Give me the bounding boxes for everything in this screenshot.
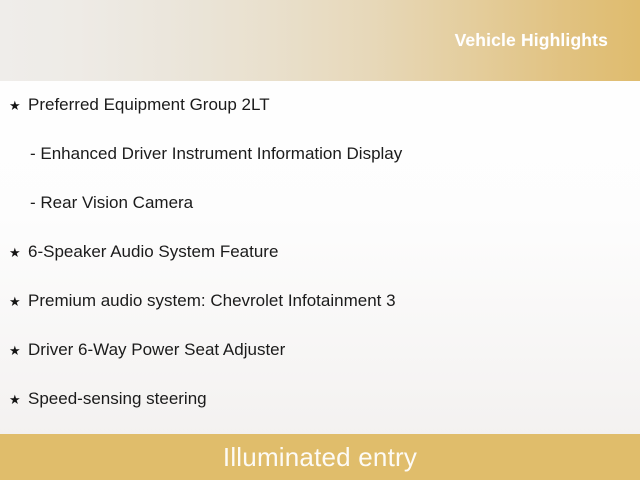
vehicle-highlights-panel: Vehicle Highlights ★ Preferred Equipment…: [0, 0, 640, 480]
list-item: ★ Driver 6-Way Power Seat Adjuster: [0, 326, 640, 375]
highlight-label: Speed-sensing steering: [28, 390, 207, 409]
star-bullet-icon: ★: [9, 295, 27, 308]
list-item: ★ Premium audio system: Chevrolet Infota…: [0, 277, 640, 326]
highlight-label: Premium audio system: Chevrolet Infotain…: [28, 292, 396, 311]
star-bullet-icon: ★: [9, 393, 27, 406]
list-item: - Enhanced Driver Instrument Information…: [0, 130, 640, 179]
footer-bar: Illuminated entry: [0, 434, 640, 480]
highlight-sublabel: - Enhanced Driver Instrument Information…: [30, 145, 402, 164]
star-bullet-icon: ★: [9, 246, 27, 259]
page-title: Vehicle Highlights: [455, 32, 608, 50]
panel-header: Vehicle Highlights: [0, 0, 640, 81]
highlight-sublabel: - Rear Vision Camera: [30, 194, 193, 213]
list-item: ★ Preferred Equipment Group 2LT: [0, 81, 640, 130]
highlights-body: ★ Preferred Equipment Group 2LT - Enhanc…: [0, 81, 640, 434]
highlight-label: Preferred Equipment Group 2LT: [28, 96, 270, 115]
footer-caption: Illuminated entry: [223, 444, 417, 470]
highlight-label: Driver 6-Way Power Seat Adjuster: [28, 341, 285, 360]
list-item: ★ 6-Speaker Audio System Feature: [0, 228, 640, 277]
star-bullet-icon: ★: [9, 99, 27, 112]
list-item: ★ Speed-sensing steering: [0, 375, 640, 424]
highlights-list: ★ Preferred Equipment Group 2LT - Enhanc…: [0, 81, 640, 424]
list-item: - Rear Vision Camera: [0, 179, 640, 228]
star-bullet-icon: ★: [9, 344, 27, 357]
highlight-label: 6-Speaker Audio System Feature: [28, 243, 278, 262]
